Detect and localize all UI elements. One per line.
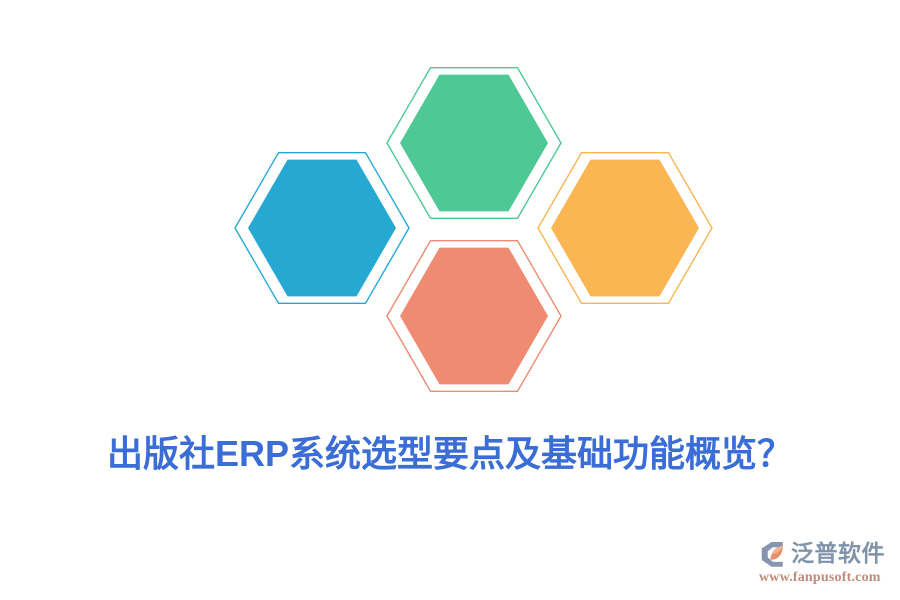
hexagon-orange-fill: [551, 160, 699, 297]
poster-canvas: 出版社ERP系统选型要点及基础功能概览？ 泛普软件 www.fanpusoft.…: [0, 0, 900, 600]
hexagon-cluster-svg: [0, 0, 900, 410]
hexagon-green-fill: [400, 75, 548, 212]
logo-website-url: www.fanpusoft.com: [759, 570, 881, 585]
hexagon-blue: [235, 153, 409, 304]
logo-brand-name: 泛普软件: [791, 542, 885, 565]
fanpu-logo-icon: [758, 539, 788, 569]
hexagon-orange: [538, 153, 712, 304]
hexagon-blue-fill: [248, 160, 396, 297]
logo-top-row: 泛普软件: [758, 539, 885, 569]
hexagon-cluster-graphic: [0, 0, 900, 410]
hexagon-salmon-fill: [400, 248, 548, 385]
hexagon-green: [387, 68, 561, 219]
brand-logo[interactable]: 泛普软件 www.fanpusoft.com: [758, 534, 894, 590]
hexagon-salmon: [387, 241, 561, 392]
page-title: 出版社ERP系统选型要点及基础功能概览？: [0, 425, 900, 477]
